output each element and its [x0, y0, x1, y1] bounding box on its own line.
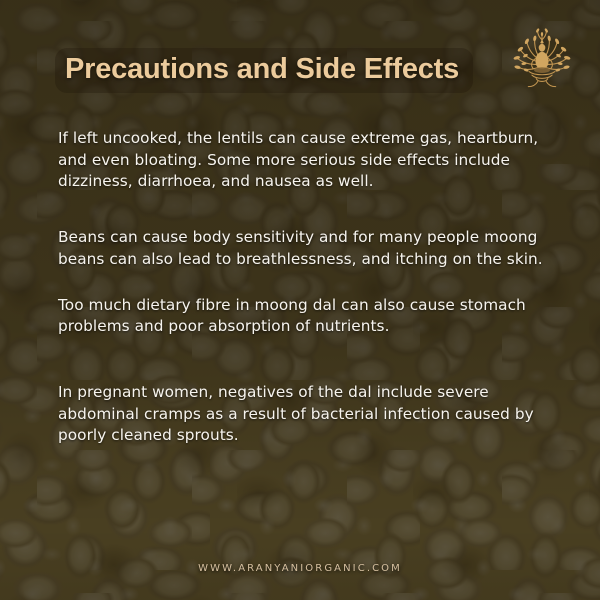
poster-title-banner: Precautions and Side Effects	[55, 48, 473, 93]
aranyani-tree-meditation-emblem-icon	[506, 24, 578, 96]
page-title: Precautions and Side Effects	[65, 54, 459, 85]
footer-website-url[interactable]: WWW.ARANYANIORGANIC.COM	[0, 563, 600, 574]
paragraph-body-sensitivity: Beans can cause body sensitivity and for…	[58, 227, 544, 270]
poster-body-text: If left uncooked, the lentils can cause …	[58, 128, 544, 447]
paragraph-dietary-fibre: Too much dietary fibre in moong dal can …	[58, 295, 544, 338]
paragraph-uncooked-lentils: If left uncooked, the lentils can cause …	[58, 128, 544, 193]
poster-content: Precautions and Side Effects If left unc…	[0, 0, 600, 600]
paragraph-pregnant-women: In pregnant women, negatives of the dal …	[58, 382, 544, 447]
poster-canvas: Precautions and Side Effects If left unc…	[0, 0, 600, 600]
